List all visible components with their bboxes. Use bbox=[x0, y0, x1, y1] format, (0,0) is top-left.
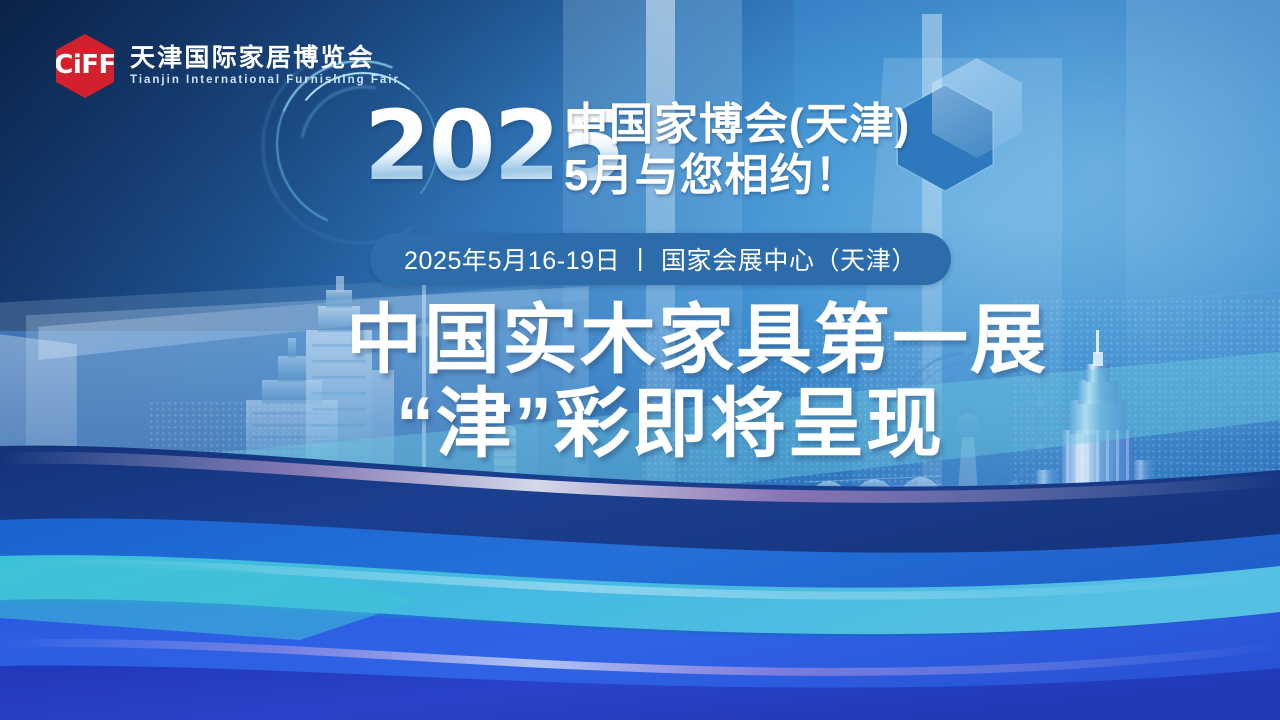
logo-text-block: 天津国际家居博览会 Tianjin International Furnishi… bbox=[130, 46, 400, 87]
banner-canvas: CiFF 天津国际家居博览会 Tianjin International Fur… bbox=[0, 0, 1280, 720]
headline-line-2: 5月与您相约！ bbox=[564, 151, 910, 200]
headline-block: 中国家博会(天津) 5月与您相约！ bbox=[564, 100, 910, 201]
ciff-mark-text: CiFF bbox=[54, 52, 116, 78]
slogan-line-2: “津”彩即将呈现 bbox=[396, 387, 944, 463]
headline-line-1: 中国家博会(天津) bbox=[564, 100, 910, 149]
date-venue-pill: 2025年5月16-19日 丨 国家会展中心（天津） bbox=[370, 233, 951, 285]
slogan-line-1: 中国实木家具第一展 bbox=[346, 303, 1048, 379]
logo-name-en: Tianjin International Furnishing Fair bbox=[130, 75, 400, 87]
logo-name-cn: 天津国际家居博览会 bbox=[130, 46, 400, 71]
ciff-logo[interactable]: CiFF 天津国际家居博览会 Tianjin International Fur… bbox=[56, 34, 400, 98]
ciff-hexagon-icon: CiFF bbox=[56, 34, 114, 98]
